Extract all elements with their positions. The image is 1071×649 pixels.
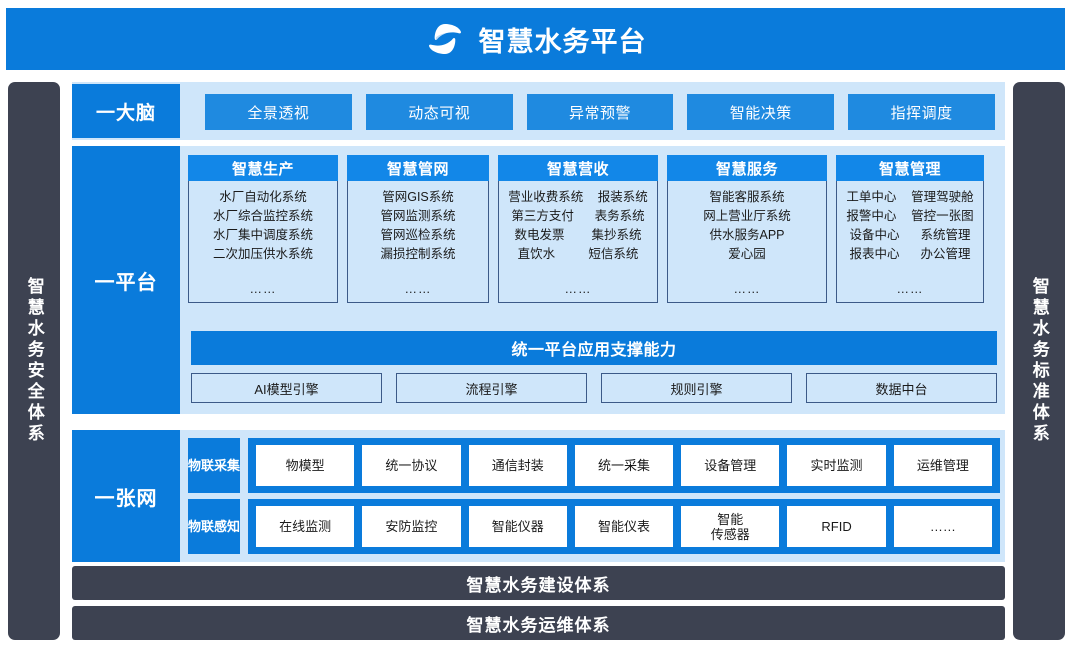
network-chip[interactable]: 智能传感器 (681, 506, 779, 547)
app-item-pair: 报警中心 管控一张图 (841, 207, 979, 226)
right-pillar-standard-system: 智慧水务标准体系 (1013, 82, 1065, 640)
app-item[interactable]: 表务系统 (595, 207, 645, 226)
app-item[interactable]: 管网GIS系统 (352, 188, 484, 207)
app-item[interactable]: 直饮水 (518, 245, 556, 264)
app-item-pair: 数电发票 集抄系统 (503, 226, 653, 245)
left-pillar-security-system: 智慧水务安全体系 (8, 82, 60, 640)
app-item[interactable]: 报装系统 (598, 188, 648, 207)
app-item[interactable]: 工单中心 (846, 188, 896, 207)
network-chip[interactable]: 智能仪器 (469, 506, 567, 547)
engine-list: AI模型引擎 流程引擎 规则引擎 数据中台 (191, 373, 997, 403)
app-column-revenue: 智慧营收 营业收费系统 报装系统 第三方支付 表务系统 数电发票 集抄系统 (498, 155, 658, 303)
page-header: 智慧水务平台 (6, 8, 1065, 70)
app-item-pair: 报表中心 办公管理 (841, 245, 979, 264)
network-chip[interactable]: 通信封装 (469, 445, 567, 486)
brain-chip[interactable]: 智能决策 (687, 94, 834, 130)
network-chip[interactable]: 安防监控 (362, 506, 460, 547)
water-leaf-logo-icon (425, 19, 465, 59)
platform-row-tag: 一平台 (72, 146, 180, 414)
brain-chip[interactable]: 动态可视 (366, 94, 513, 130)
app-column-production: 智慧生产 水厂自动化系统 水厂综合监控系统 水厂集中调度系统 二次加压供水系统 … (188, 155, 338, 303)
app-item[interactable]: 水厂综合监控系统 (193, 207, 333, 226)
app-ellipsis: …… (565, 282, 592, 298)
network-chip[interactable]: 实时监测 (787, 445, 885, 486)
platform-inner: 智慧生产 水厂自动化系统 水厂综合监控系统 水厂集中调度系统 二次加压供水系统 … (188, 155, 1000, 407)
app-item[interactable]: 水厂集中调度系统 (193, 226, 333, 245)
app-column-body: 水厂自动化系统 水厂综合监控系统 水厂集中调度系统 二次加压供水系统 …… (188, 181, 338, 303)
app-item[interactable]: 漏损控制系统 (352, 245, 484, 264)
app-item[interactable]: 网上营业厅系统 (672, 207, 822, 226)
app-item[interactable]: 管理驾驶舱 (911, 188, 974, 207)
brain-chip-list: 全景透视 动态可视 异常预警 智能决策 指挥调度 (205, 94, 995, 130)
network-chip[interactable]: 物模型 (256, 445, 354, 486)
network-row-collection: 物联采集 物模型 统一协议 通信封装 统一采集 设备管理 实时监测 运维管理 (188, 438, 1000, 493)
app-item[interactable]: 第三方支付 (511, 207, 574, 226)
app-item-pair: 直饮水 短信系统 (503, 245, 653, 264)
network-chip[interactable]: 统一采集 (575, 445, 673, 486)
app-item[interactable]: 系统管理 (920, 226, 970, 245)
app-item[interactable]: 设备中心 (849, 226, 899, 245)
brain-chip[interactable]: 异常预警 (527, 94, 674, 130)
app-column-title: 智慧生产 (188, 155, 338, 181)
app-column-service: 智慧服务 智能客服系统 网上营业厅系统 供水服务APP 爱心园 …… (667, 155, 827, 303)
app-column-body: 工单中心 管理驾驶舱 报警中心 管控一张图 设备中心 系统管理 报表中心 办公管… (836, 181, 984, 303)
architecture-diagram: 智慧水务平台 智慧水务安全体系 智慧水务标准体系 一大脑 全景透视 动态可视 异… (0, 0, 1071, 649)
app-item-pair: 营业收费系统 报装系统 (503, 188, 653, 207)
app-item[interactable]: 二次加压供水系统 (193, 245, 333, 264)
app-item[interactable]: 管网巡检系统 (352, 226, 484, 245)
bottom-bar-construction-system: 智慧水务建设体系 (72, 566, 1005, 600)
app-ellipsis: …… (897, 282, 924, 298)
app-column-body: 管网GIS系统 管网监测系统 管网巡检系统 漏损控制系统 …… (347, 181, 489, 303)
network-chip[interactable]: 运维管理 (894, 445, 992, 486)
support-capability-title: 统一平台应用支撑能力 (191, 331, 997, 365)
network-chip-strip: 物模型 统一协议 通信封装 统一采集 设备管理 实时监测 运维管理 (248, 438, 1000, 493)
app-item[interactable]: 短信系统 (588, 245, 638, 264)
brain-chip[interactable]: 指挥调度 (848, 94, 995, 130)
network-chip[interactable]: 智能仪表 (575, 506, 673, 547)
brain-row-tag: 一大脑 (72, 84, 180, 138)
engine-chip[interactable]: 规则引擎 (601, 373, 792, 403)
app-item[interactable]: 智能客服系统 (672, 188, 822, 207)
app-ellipsis: …… (250, 282, 277, 298)
network-chip[interactable]: 在线监测 (256, 506, 354, 547)
app-ellipsis: …… (734, 282, 761, 298)
bottom-bar-operation-system: 智慧水务运维体系 (72, 606, 1005, 640)
app-column-management: 智慧管理 工单中心 管理驾驶舱 报警中心 管控一张图 设备中心 系统管理 (836, 155, 984, 303)
app-item[interactable]: 管网监测系统 (352, 207, 484, 226)
network-row-perception: 物联感知 在线监测 安防监控 智能仪器 智能仪表 智能传感器 RFID …… (188, 499, 1000, 554)
app-item[interactable]: 报表中心 (849, 245, 899, 264)
network-inner: 物联采集 物模型 统一协议 通信封装 统一采集 设备管理 实时监测 运维管理 物… (188, 438, 1000, 554)
application-columns: 智慧生产 水厂自动化系统 水厂综合监控系统 水厂集中调度系统 二次加压供水系统 … (188, 155, 1000, 303)
engine-chip[interactable]: 流程引擎 (396, 373, 587, 403)
app-column-title: 智慧管理 (836, 155, 984, 181)
app-item[interactable]: 水厂自动化系统 (193, 188, 333, 207)
app-item[interactable]: 办公管理 (920, 245, 970, 264)
app-item-pair: 工单中心 管理驾驶舱 (841, 188, 979, 207)
app-item[interactable]: 报警中心 (846, 207, 896, 226)
app-column-title: 智慧服务 (667, 155, 827, 181)
app-item-pair: 设备中心 系统管理 (841, 226, 979, 245)
app-ellipsis: …… (405, 282, 432, 298)
app-item[interactable]: 供水服务APP (672, 226, 822, 245)
brain-chip[interactable]: 全景透视 (205, 94, 352, 130)
app-item[interactable]: 集抄系统 (591, 226, 641, 245)
app-item-pair: 第三方支付 表务系统 (503, 207, 653, 226)
app-column-body: 智能客服系统 网上营业厅系统 供水服务APP 爱心园 …… (667, 181, 827, 303)
right-pillar-label: 智慧水务标准体系 (1029, 277, 1049, 445)
engine-chip[interactable]: 数据中台 (806, 373, 997, 403)
network-row-label: 物联感知 (188, 499, 240, 554)
app-item[interactable]: 管控一张图 (911, 207, 974, 226)
network-chip[interactable]: …… (894, 506, 992, 547)
network-chip[interactable]: 统一协议 (362, 445, 460, 486)
app-item[interactable]: 爱心园 (672, 245, 822, 264)
engine-chip[interactable]: AI模型引擎 (191, 373, 382, 403)
network-chip[interactable]: RFID (787, 506, 885, 547)
network-chip[interactable]: 设备管理 (681, 445, 779, 486)
app-item[interactable]: 数电发票 (514, 226, 564, 245)
app-column-title: 智慧营收 (498, 155, 658, 181)
network-row-label: 物联采集 (188, 438, 240, 493)
page-title: 智慧水务平台 (479, 20, 647, 59)
app-item[interactable]: 营业收费系统 (508, 188, 583, 207)
network-chip-strip: 在线监测 安防监控 智能仪器 智能仪表 智能传感器 RFID …… (248, 499, 1000, 554)
app-column-pipe-network: 智慧管网 管网GIS系统 管网监测系统 管网巡检系统 漏损控制系统 …… (347, 155, 489, 303)
app-column-body: 营业收费系统 报装系统 第三方支付 表务系统 数电发票 集抄系统 直饮水 短信系… (498, 181, 658, 303)
network-row-tag: 一张网 (72, 430, 180, 562)
left-pillar-label: 智慧水务安全体系 (24, 277, 44, 445)
app-column-title: 智慧管网 (347, 155, 489, 181)
